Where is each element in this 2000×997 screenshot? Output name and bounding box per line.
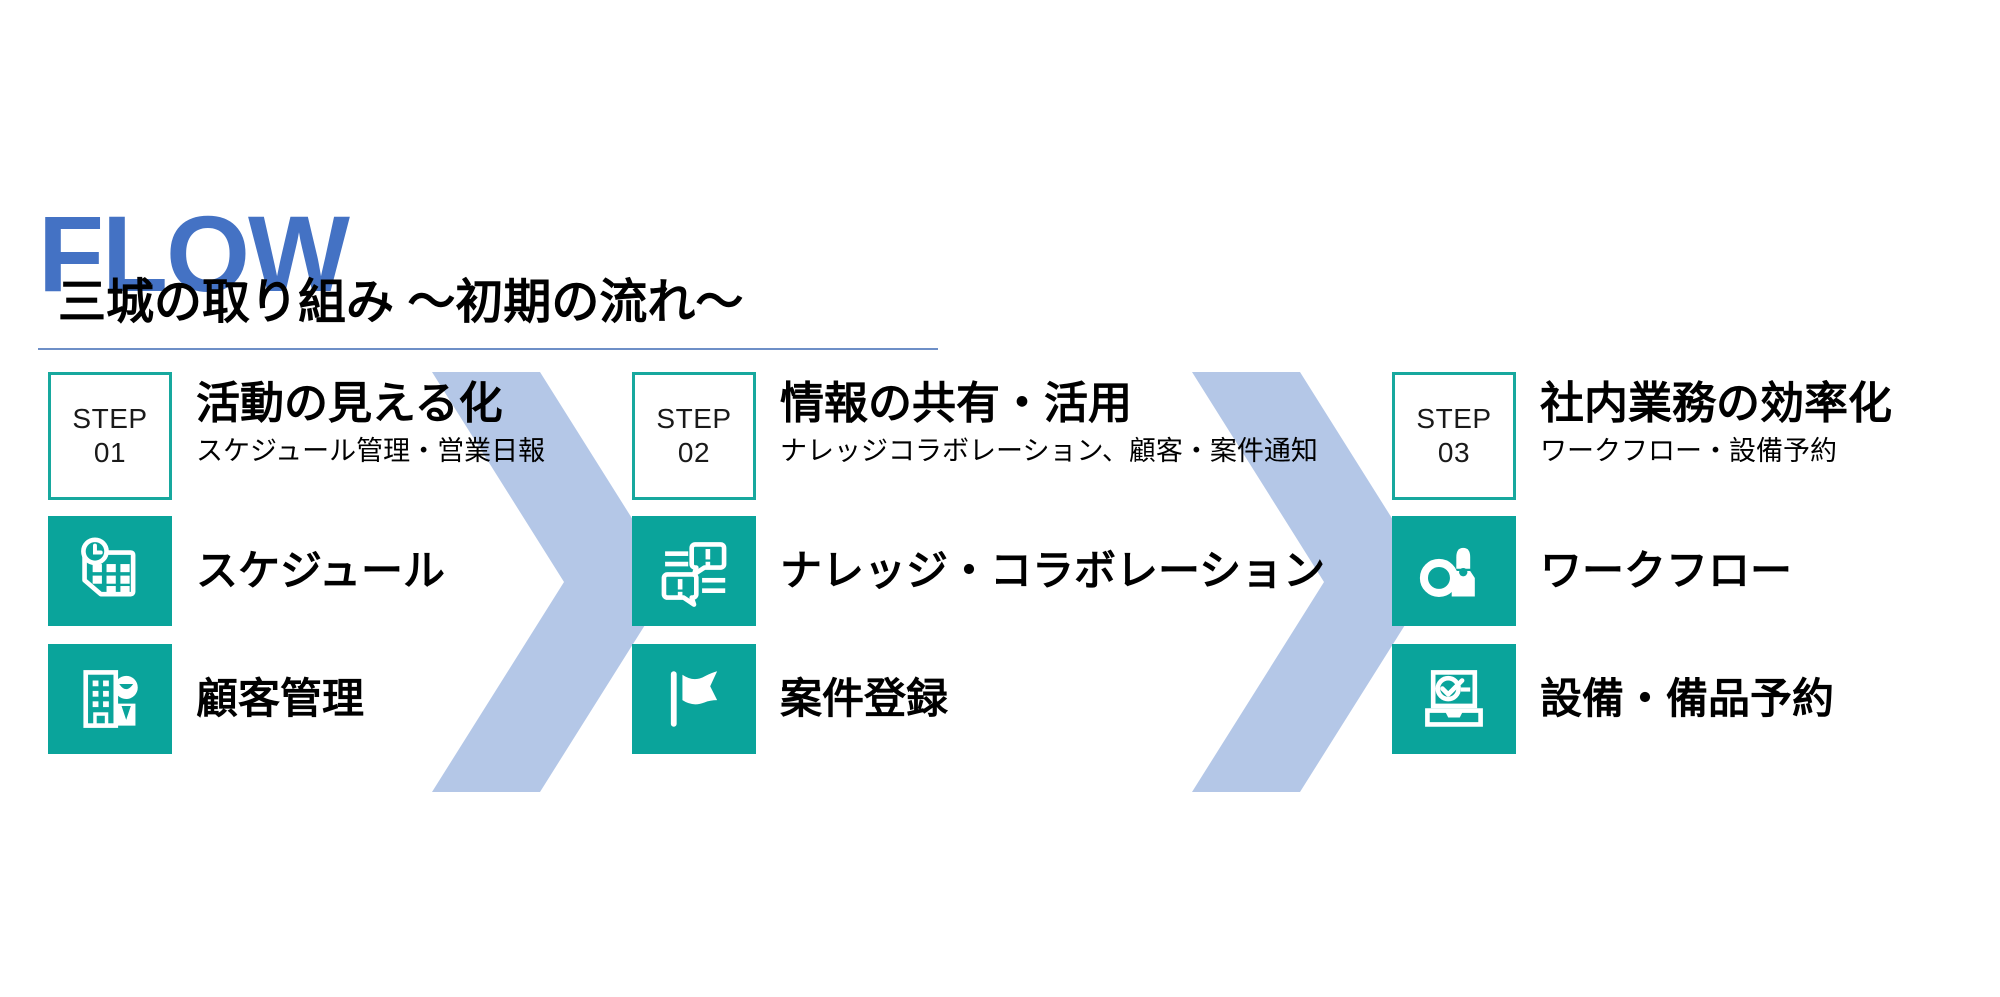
step-heading-block-03: 社内業務の効率化 ワークフロー・設備予約 bbox=[1540, 378, 1892, 468]
step-header-03: STEP 03 社内業務の効率化 ワークフロー・設備予約 bbox=[1392, 372, 1992, 504]
step-heading-block-02: 情報の共有・活用 ナレッジコラボレーション、顧客・案件通知 bbox=[780, 378, 1318, 468]
step-badge-word: STEP bbox=[656, 402, 731, 436]
step-title-01: 活動の見える化 bbox=[196, 378, 545, 430]
step-column-02: STEP 02 情報の共有・活用 ナレッジコラボレーション、顧客・案件通知 bbox=[632, 372, 1252, 754]
slide-canvas: FLOW 三城の取り組み ～初期の流れ～ STEP 01 活動の見える化 スケジ… bbox=[0, 0, 2000, 997]
step-title-02: 情報の共有・活用 bbox=[780, 378, 1318, 430]
page-title: 三城の取り組み ～初期の流れ～ bbox=[58, 275, 743, 331]
step-subtitle-03: ワークフロー・設備予約 bbox=[1540, 434, 1892, 468]
calendar-plus-icon bbox=[48, 516, 172, 626]
feature-label-knowledge-collaboration: ナレッジ・コラボレーション bbox=[780, 546, 1325, 596]
step-badge-word: STEP bbox=[1416, 402, 1491, 436]
projector-check-icon bbox=[1392, 644, 1516, 754]
feature-row: 設備・備品予約 bbox=[1392, 644, 1992, 754]
feature-row: ワークフロー bbox=[1392, 516, 1992, 626]
step-column-03: STEP 03 社内業務の効率化 ワークフロー・設備予約 ワークフロー bbox=[1392, 372, 1992, 754]
step-heading-block-01: 活動の見える化 スケジュール管理・営業日報 bbox=[196, 378, 545, 468]
approval-stamp-icon bbox=[1392, 516, 1516, 626]
feature-row: 顧客管理 bbox=[48, 644, 648, 754]
step-title-03: 社内業務の効率化 bbox=[1540, 378, 1892, 430]
speech-bubbles-icon bbox=[632, 516, 756, 626]
flag-icon bbox=[632, 644, 756, 754]
step-badge-03: STEP 03 bbox=[1392, 372, 1516, 500]
feature-label-facility-reservation: 設備・備品予約 bbox=[1540, 674, 1834, 724]
step-badge-word: STEP bbox=[72, 402, 147, 436]
step-subtitle-01: スケジュール管理・営業日報 bbox=[196, 434, 545, 468]
step-header-02: STEP 02 情報の共有・活用 ナレッジコラボレーション、顧客・案件通知 bbox=[632, 372, 1252, 504]
header-divider bbox=[38, 348, 938, 350]
step-badge-02: STEP 02 bbox=[632, 372, 756, 500]
step-badge-01: STEP 01 bbox=[48, 372, 172, 500]
feature-row: スケジュール bbox=[48, 516, 648, 626]
feature-label-workflow: ワークフロー bbox=[1540, 546, 1792, 596]
building-person-icon bbox=[48, 644, 172, 754]
feature-row: ナレッジ・コラボレーション bbox=[632, 516, 1252, 626]
feature-row: 案件登録 bbox=[632, 644, 1252, 754]
step-badge-number: 03 bbox=[1438, 436, 1470, 470]
step-subtitle-02: ナレッジコラボレーション、顧客・案件通知 bbox=[780, 434, 1318, 468]
step-badge-number: 02 bbox=[678, 436, 710, 470]
step-badge-number: 01 bbox=[94, 436, 126, 470]
feature-label-customer-management: 顧客管理 bbox=[196, 674, 364, 724]
slide-header: FLOW 三城の取り組み ～初期の流れ～ bbox=[38, 200, 958, 350]
feature-label-project-registration: 案件登録 bbox=[780, 674, 948, 724]
step-header-01: STEP 01 活動の見える化 スケジュール管理・営業日報 bbox=[48, 372, 648, 504]
step-column-01: STEP 01 活動の見える化 スケジュール管理・営業日報 bbox=[48, 372, 648, 754]
feature-label-schedule: スケジュール bbox=[196, 546, 445, 596]
